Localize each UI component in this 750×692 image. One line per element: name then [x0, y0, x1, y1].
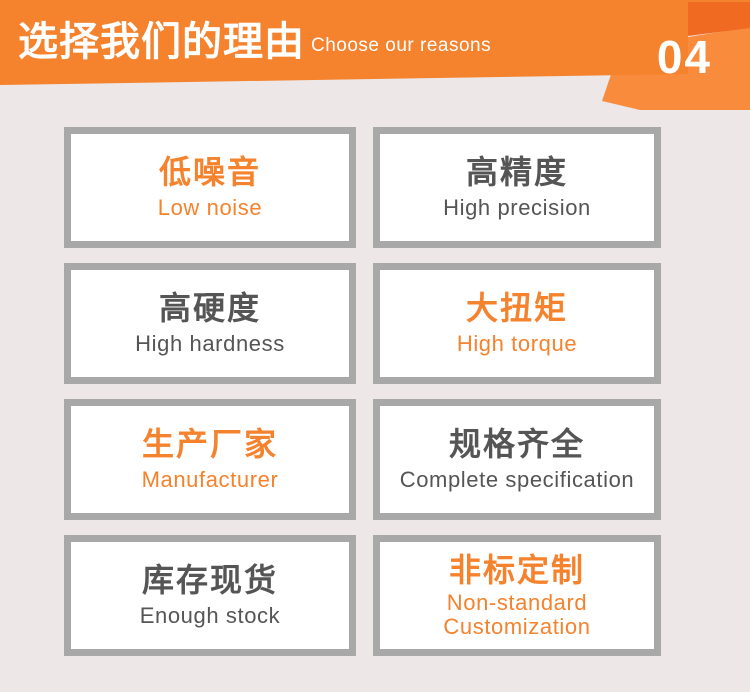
card-row: 低噪音 Low noise 高精度 High precision [64, 127, 661, 248]
card-high-precision[interactable]: 高精度 High precision [373, 127, 661, 248]
card-title-chinese: 生产厂家 [142, 426, 278, 463]
card-title-chinese: 低噪音 [159, 154, 261, 191]
card-title-chinese: 大扭矩 [466, 290, 568, 327]
page-title-english: Choose our reasons [311, 35, 491, 57]
card-low-noise[interactable]: 低噪音 Low noise [64, 127, 356, 248]
card-high-torque[interactable]: 大扭矩 High torque [373, 263, 661, 384]
card-non-standard-customization[interactable]: 非标定制 Non-standard Customization [373, 535, 661, 656]
card-title-english: Manufacturer [142, 467, 279, 493]
card-row: 生产厂家 Manufacturer 规格齐全 Complete specific… [64, 399, 661, 520]
card-title-chinese: 非标定制 [449, 552, 585, 589]
feature-card-grid: 低噪音 Low noise 高精度 High precision 高硬度 Hig… [0, 110, 750, 692]
card-title-english: Low noise [158, 195, 262, 221]
card-enough-stock[interactable]: 库存现货 Enough stock [64, 535, 356, 656]
card-title-chinese: 规格齐全 [449, 426, 585, 463]
header-title-group: 选择我们的理由 Choose our reasons [18, 0, 491, 85]
section-number-badge: 04 [657, 34, 712, 80]
card-row: 库存现货 Enough stock 非标定制 Non-standard Cust… [64, 535, 661, 656]
card-title-english: High hardness [135, 331, 285, 357]
card-row: 高硬度 High hardness 大扭矩 High torque [64, 263, 661, 384]
page-title-chinese: 选择我们的理由 [18, 0, 305, 85]
header-banner: 选择我们的理由 Choose our reasons 04 [0, 0, 750, 110]
card-title-english: Non-standard Customization [417, 591, 617, 639]
card-title-english: High precision [443, 195, 591, 221]
card-high-hardness[interactable]: 高硬度 High hardness [64, 263, 356, 384]
card-title-chinese: 高硬度 [159, 290, 261, 327]
card-title-english: Complete specification [400, 467, 635, 493]
card-complete-specification[interactable]: 规格齐全 Complete specification [373, 399, 661, 520]
card-title-chinese: 高精度 [466, 154, 568, 191]
card-title-english: Enough stock [140, 603, 281, 629]
card-title-chinese: 库存现货 [142, 562, 278, 599]
card-manufacturer[interactable]: 生产厂家 Manufacturer [64, 399, 356, 520]
card-title-english: High torque [457, 331, 577, 357]
